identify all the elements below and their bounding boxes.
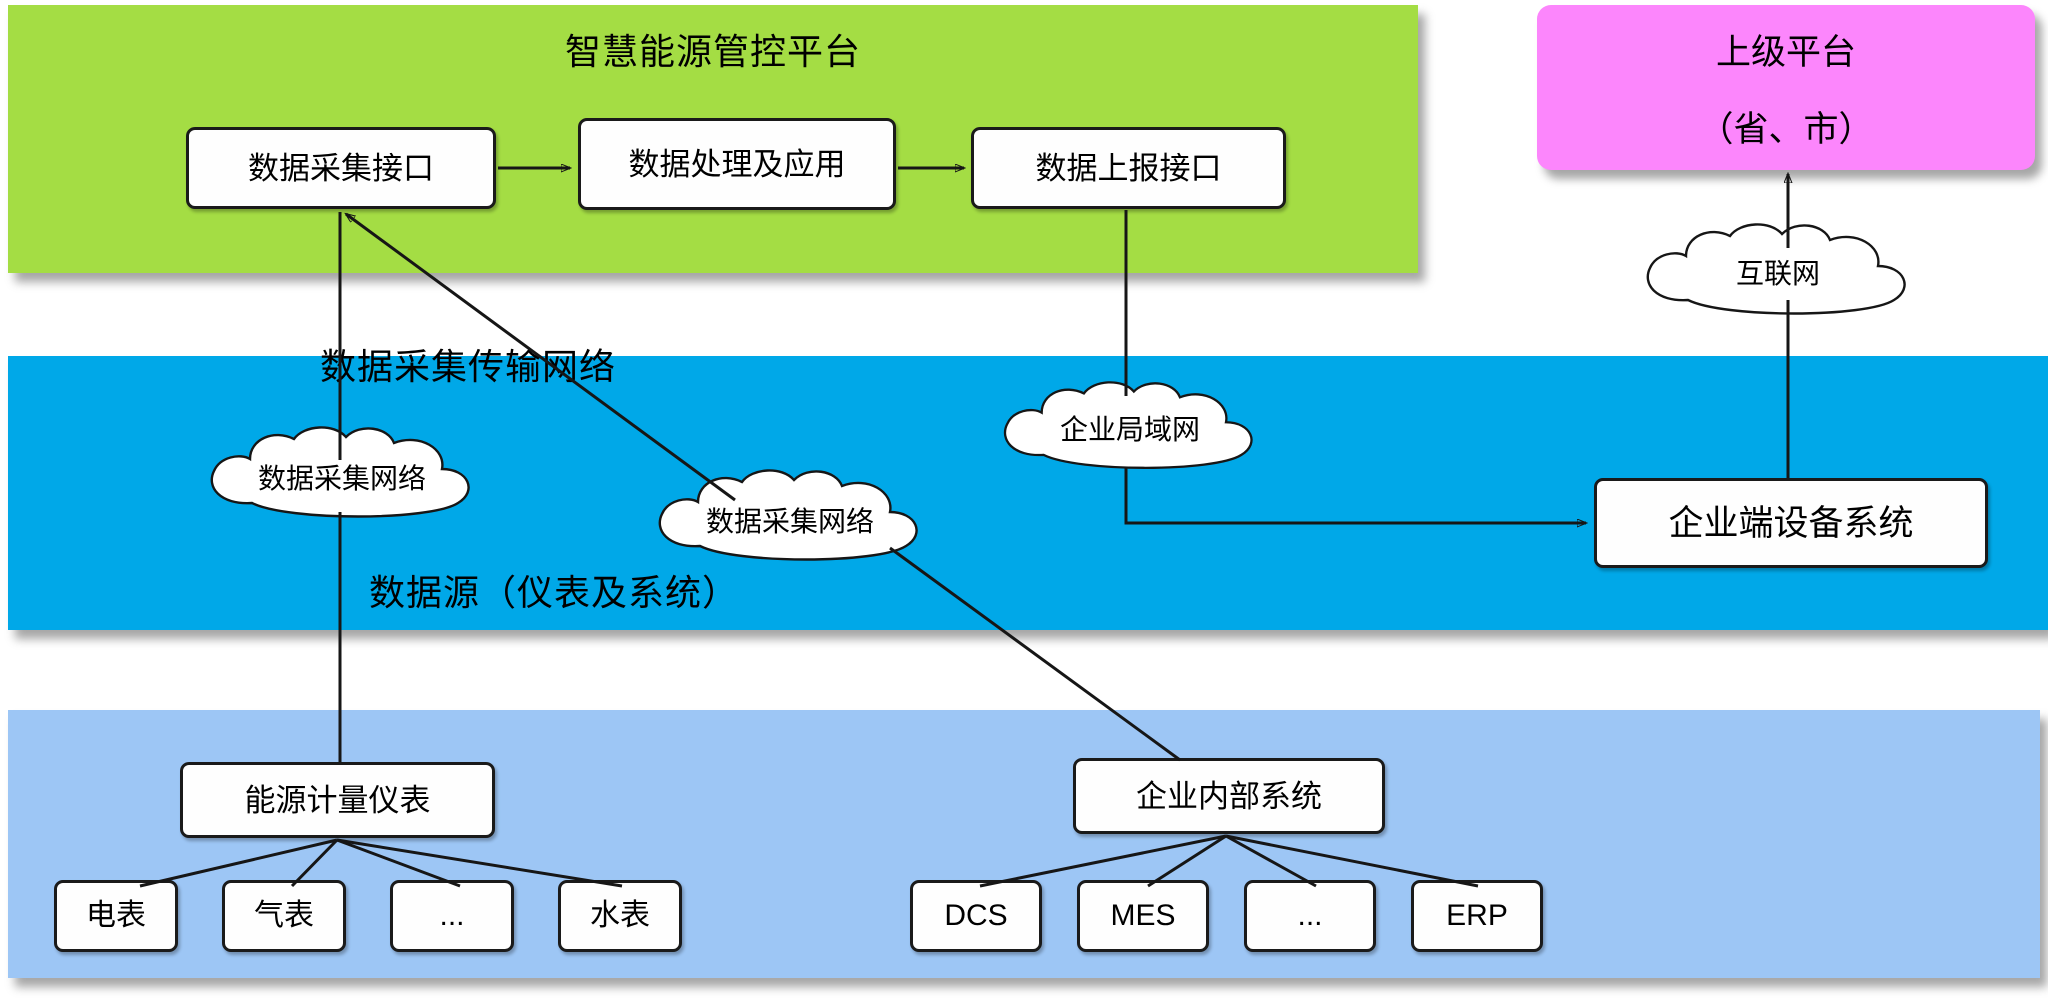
node-label: 能源计量仪表 <box>245 785 431 816</box>
upper-platform-line1: 上级平台 <box>1716 24 1856 75</box>
node-meter-gas[interactable]: 气表 <box>222 880 346 952</box>
node-label: 数据采集接口 <box>248 153 434 184</box>
node-label: DCS <box>944 901 1007 931</box>
node-energy-meter[interactable]: 能源计量仪表 <box>180 762 495 838</box>
node-label: 企业内部系统 <box>1136 781 1322 812</box>
diagram-canvas: 智慧能源管控平台 数据采集传输网络 数据源（仪表及系统） 上级平台 （省、市） … <box>0 0 2048 1003</box>
node-meter-electric[interactable]: 电表 <box>54 880 178 952</box>
node-meter-water[interactable]: 水表 <box>558 880 682 952</box>
cloud-enterprise-lan[interactable]: 企业局域网 <box>985 380 1275 476</box>
node-system-mes[interactable]: MES <box>1077 880 1209 952</box>
layer-title-platform: 智慧能源管控平台 <box>8 23 1418 75</box>
node-label: 气表 <box>254 901 314 931</box>
node-label: ... <box>439 901 464 931</box>
cloud-label: 企业局域网 <box>985 408 1275 448</box>
upper-platform-box[interactable]: 上级平台 （省、市） <box>1537 5 2035 170</box>
cloud-acq-net-1[interactable]: 数据采集网络 <box>192 425 492 525</box>
cloud-internet[interactable]: 互联网 <box>1628 222 1928 322</box>
node-process-apply[interactable]: 数据处理及应用 <box>578 118 896 210</box>
cloud-label: 数据采集网络 <box>640 500 940 540</box>
node-label: MES <box>1110 901 1175 931</box>
node-label: ERP <box>1446 901 1508 931</box>
node-enterprise-device-system[interactable]: 企业端设备系统 <box>1594 478 1988 568</box>
node-system-ellipsis[interactable]: ... <box>1244 880 1376 952</box>
cloud-acq-net-2[interactable]: 数据采集网络 <box>640 468 940 568</box>
node-system-dcs[interactable]: DCS <box>910 880 1042 952</box>
node-system-erp[interactable]: ERP <box>1411 880 1543 952</box>
node-label: 数据处理及应用 <box>629 149 846 180</box>
cloud-label: 互联网 <box>1628 252 1928 292</box>
node-label: 水表 <box>590 901 650 931</box>
node-collect-interface[interactable]: 数据采集接口 <box>186 127 496 209</box>
node-enterprise-internal-system[interactable]: 企业内部系统 <box>1073 758 1385 834</box>
node-label: 数据上报接口 <box>1036 153 1222 184</box>
upper-platform-line2: （省、市） <box>1698 101 1873 152</box>
node-meter-ellipsis[interactable]: ... <box>390 880 514 952</box>
layer-title-datasource: 数据源（仪表及系统） <box>0 564 1570 616</box>
node-label: 电表 <box>86 901 146 931</box>
node-report-interface[interactable]: 数据上报接口 <box>971 127 1286 209</box>
node-label: ... <box>1297 901 1322 931</box>
cloud-label: 数据采集网络 <box>192 457 492 497</box>
node-label: 企业端设备系统 <box>1668 506 1913 541</box>
